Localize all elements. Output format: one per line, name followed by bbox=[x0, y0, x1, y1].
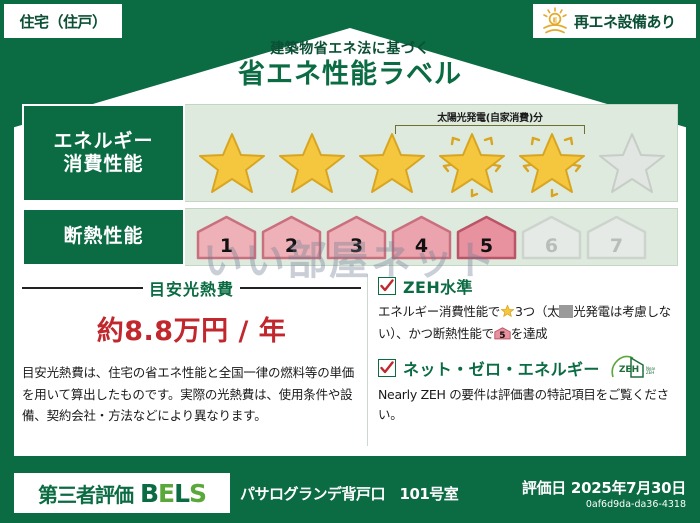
star-1 bbox=[193, 122, 271, 200]
cost-rule-left bbox=[22, 287, 143, 289]
utility-cost-title: 目安光熱費 bbox=[149, 276, 234, 300]
insulation-grade-2-number: 2 bbox=[260, 235, 323, 257]
energy-label-line1: エネルギー bbox=[53, 130, 153, 153]
insulation-grade-6: 6 bbox=[520, 215, 583, 261]
svg-text:ZEH: ZEH bbox=[619, 365, 639, 375]
insulation-label-text: 断熱性能 bbox=[63, 225, 143, 248]
bels-logo-box: 第三者評価 BELS bbox=[14, 473, 230, 513]
svg-text:E: E bbox=[553, 16, 558, 24]
inline-house-grade-icon: 5 bbox=[494, 326, 511, 341]
insulation-grade-3-number: 3 bbox=[325, 235, 388, 257]
insulation-grade-scale: 1 2 3 bbox=[195, 215, 648, 261]
net-zero-energy-description: Nearly ZEH の要件は評価書の特記項目をご覧ください。 bbox=[378, 385, 678, 426]
renewable-equipment-badge: E 再エネ設備あり bbox=[533, 4, 696, 38]
title-main: 省エネ性能ラベル bbox=[0, 58, 700, 92]
bels-letter-e: E bbox=[158, 479, 174, 508]
evaluation-info: 評価日 2025年7月30日 0af6d9da-da36-4318 bbox=[522, 477, 686, 510]
property-name: パサログランデ背戸口 101号室 bbox=[240, 483, 458, 504]
insulation-grade-3: 3 bbox=[325, 215, 388, 261]
star-4-solar bbox=[433, 122, 511, 200]
energy-performance-label: エネルギー 消費性能 bbox=[22, 104, 185, 202]
utility-cost-section: 目安光熱費 約8.8万円 / 年 目安光熱費は、住宅の省エネ性能と全国一律の燃料… bbox=[22, 274, 367, 446]
bels-letter-l: L bbox=[174, 479, 189, 508]
star-3 bbox=[353, 122, 431, 200]
evaluation-date: 評価日 2025年7月30日 bbox=[522, 477, 686, 498]
label-footer: 第三者評価 BELS パサログランデ背戸口 101号室 評価日 2025年7月3… bbox=[0, 463, 700, 523]
bels-letter-s: S bbox=[189, 479, 206, 508]
title-subtitle: 建築物省エネ法に基づく bbox=[0, 42, 700, 57]
net-zero-energy-title: ネット・ゼロ・エネルギー bbox=[403, 356, 600, 380]
energy-label-line2: 消費性能 bbox=[63, 153, 143, 176]
zeh-logo-icon: ZEH Nearly ZEH bbox=[609, 355, 655, 381]
label-title: 建築物省エネ法に基づく 省エネ性能ラベル bbox=[0, 42, 700, 92]
zeh-standard-title: ZEH水準 bbox=[403, 274, 473, 298]
zeh-section: ZEH水準 エネルギー消費性能で3つ（太光発電は考慮しない）、かつ断熱性能で5を… bbox=[367, 274, 678, 446]
insulation-grade-field: 1 2 3 bbox=[185, 208, 678, 266]
star-2 bbox=[273, 122, 351, 200]
sun-renewable-icon: E bbox=[540, 7, 570, 35]
energy-star-rating bbox=[187, 121, 679, 201]
insulation-grade-5-number: 5 bbox=[455, 235, 518, 257]
net-zero-energy-checkbox[interactable] bbox=[378, 359, 396, 377]
insulation-grade-7-number: 7 bbox=[585, 235, 648, 257]
renewable-equipment-label: 再エネ設備あり bbox=[574, 11, 676, 32]
zeh-standard-header: ZEH水準 bbox=[378, 274, 678, 298]
zeh-desc-part1: エネルギー消費性能で bbox=[378, 304, 500, 319]
label-content: エネルギー 消費性能 太陽光発電(自家消費)分 bbox=[22, 104, 678, 452]
utility-cost-header: 目安光熱費 bbox=[22, 276, 361, 300]
star-6-empty bbox=[593, 122, 671, 200]
bels-letter-b: B bbox=[140, 479, 158, 508]
insulation-grade-5: 5 bbox=[455, 215, 518, 261]
insulation-performance-row: 断熱性能 1 2 bbox=[22, 208, 678, 266]
energy-performance-row: エネルギー 消費性能 太陽光発電(自家消費)分 bbox=[22, 104, 678, 202]
insulation-grade-7: 7 bbox=[585, 215, 648, 261]
insulation-grade-1: 1 bbox=[195, 215, 258, 261]
zeh-desc-end: を達成 bbox=[511, 326, 548, 341]
insulation-performance-label: 断熱性能 bbox=[22, 208, 185, 266]
zeh-standard-block: ZEH水準 エネルギー消費性能で3つ（太光発電は考慮しない）、かつ断熱性能で5を… bbox=[378, 274, 678, 345]
zeh-standard-description: エネルギー消費性能で3つ（太光発電は考慮しない）、かつ断熱性能で5を達成 bbox=[378, 302, 678, 345]
evaluation-id: 0af6d9da-da36-4318 bbox=[522, 499, 686, 510]
cost-rule-right bbox=[240, 287, 361, 289]
insulation-grade-4: 4 bbox=[390, 215, 453, 261]
svg-text:ZEH: ZEH bbox=[646, 370, 654, 375]
utility-cost-value: 約8.8万円 / 年 bbox=[22, 309, 361, 348]
utility-cost-note: 目安光熱費は、住宅の省エネ性能と全国一律の燃料等の単価を用いて算出したものです。… bbox=[22, 362, 361, 427]
inline-house-number: 5 bbox=[494, 329, 511, 344]
dwelling-type-badge: 住宅（住戸） bbox=[4, 4, 122, 38]
insulation-grade-6-number: 6 bbox=[520, 235, 583, 257]
energy-performance-label: 住宅（住戸） E 再エネ設備あり 建築物省エネ法に基づく 省エネ性能ラベ bbox=[0, 0, 700, 523]
energy-star-field: 太陽光発電(自家消費)分 bbox=[185, 104, 678, 202]
redacted-text-block bbox=[559, 305, 573, 318]
inline-star-icon bbox=[500, 303, 515, 324]
zeh-desc-star-count: 3つ（太 bbox=[515, 304, 559, 319]
zeh-standard-checkbox[interactable] bbox=[378, 277, 396, 295]
insulation-grade-4-number: 4 bbox=[390, 235, 453, 257]
net-zero-energy-block: ネット・ゼロ・エネルギー ZEH Nearly ZEH Nearly ZEH の… bbox=[378, 355, 678, 426]
net-zero-energy-header: ネット・ゼロ・エネルギー ZEH Nearly ZEH bbox=[378, 355, 678, 381]
star-5-solar bbox=[513, 122, 591, 200]
insulation-grade-2: 2 bbox=[260, 215, 323, 261]
dwelling-type-label: 住宅（住戸） bbox=[19, 11, 106, 32]
bels-wordmark: BELS bbox=[140, 479, 206, 508]
insulation-grade-1-number: 1 bbox=[195, 235, 258, 257]
lower-section: 目安光熱費 約8.8万円 / 年 目安光熱費は、住宅の省エネ性能と全国一律の燃料… bbox=[22, 274, 678, 446]
third-party-eval-label: 第三者評価 bbox=[38, 479, 133, 508]
